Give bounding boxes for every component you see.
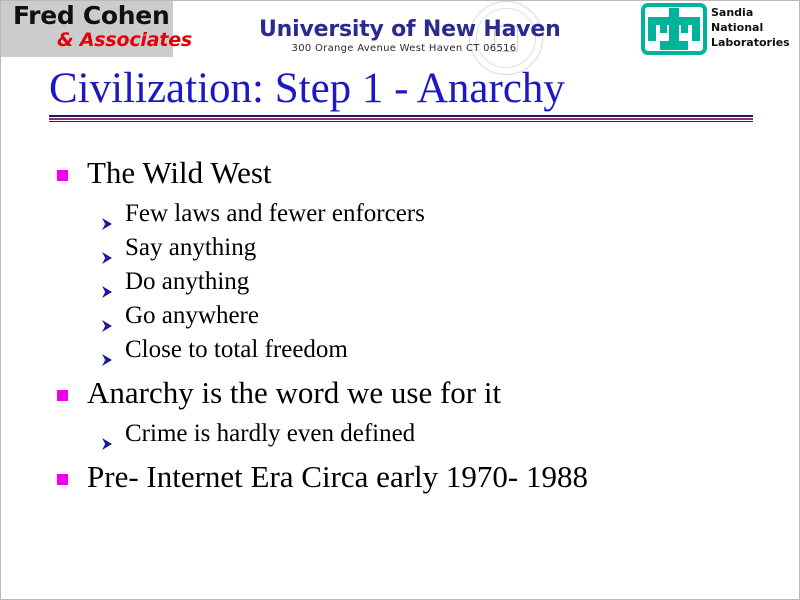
bullet-item-level2: Do anything	[49, 265, 769, 299]
square-bullet-icon	[57, 474, 68, 485]
slide-title: Civilization: Step 1 - Anarchy	[49, 65, 759, 113]
bullet-text: Anarchy is the word we use for it	[87, 375, 501, 410]
sandia-logo-text: Sandia National Laboratories	[711, 5, 790, 50]
bullet-item-level1: Anarchy is the word we use for it	[49, 373, 769, 413]
arrow-bullet-icon	[101, 207, 114, 221]
sandia-national-laboratories-logo: Sandia National Laboratories	[641, 3, 799, 57]
bullet-item-level1: Pre- Internet Era Circa early 1970- 1988	[49, 457, 769, 497]
divider-line-top	[49, 115, 753, 117]
divider-line-middle	[49, 118, 753, 120]
bullet-item-level2: Go anywhere	[49, 299, 769, 333]
square-bullet-icon	[57, 390, 68, 401]
arrow-bullet-icon	[101, 427, 114, 441]
bullet-text: Say anything	[125, 234, 256, 261]
arrow-bullet-icon	[101, 241, 114, 255]
slide-canvas: Fred Cohen & Associates University of Ne…	[0, 0, 800, 600]
bullet-item-level2: Crime is hardly even defined	[49, 417, 769, 451]
fred-cohen-logo-name: Fred Cohen	[13, 3, 169, 29]
square-bullet-icon	[57, 170, 68, 181]
university-of-new-haven-logo: University of New Haven 300 Orange Avenu…	[259, 18, 549, 55]
bullet-text: Close to total freedom	[125, 336, 348, 363]
bullet-text: Pre- Internet Era Circa early 1970- 1988	[87, 459, 588, 494]
bullet-text: Crime is hardly even defined	[125, 420, 415, 447]
sandia-logo-line1: Sandia	[711, 5, 790, 20]
sandia-logo-line3: Laboratories	[711, 35, 790, 50]
arrow-bullet-icon	[101, 309, 114, 323]
bullet-item-level2: Close to total freedom	[49, 333, 769, 367]
fred-cohen-logo-tagline: & Associates	[57, 30, 192, 51]
bullet-item-level2: Few laws and fewer enforcers	[49, 197, 769, 231]
bullet-item-level1: The Wild West	[49, 153, 769, 193]
title-divider	[49, 115, 753, 123]
bullet-text: Go anywhere	[125, 302, 259, 329]
arrow-bullet-icon	[101, 343, 114, 357]
fred-cohen-logo: Fred Cohen & Associates	[1, 1, 173, 57]
university-address: 300 Orange Avenue West Haven CT 06516	[259, 43, 549, 55]
sandia-logo-line2: National	[711, 20, 790, 35]
bullet-text: Do anything	[125, 268, 249, 295]
arrow-bullet-icon	[101, 275, 114, 289]
university-name: University of New Haven	[259, 18, 549, 41]
divider-line-bottom	[49, 121, 753, 122]
bullet-text: Few laws and fewer enforcers	[125, 200, 425, 227]
slide-header: Fred Cohen & Associates University of Ne…	[1, 1, 800, 63]
bullet-text: The Wild West	[87, 155, 272, 190]
slide-body: The Wild West Few laws and fewer enforce…	[49, 153, 769, 497]
bullet-item-level2: Say anything	[49, 231, 769, 265]
sandia-thunderbird-icon	[641, 3, 707, 55]
